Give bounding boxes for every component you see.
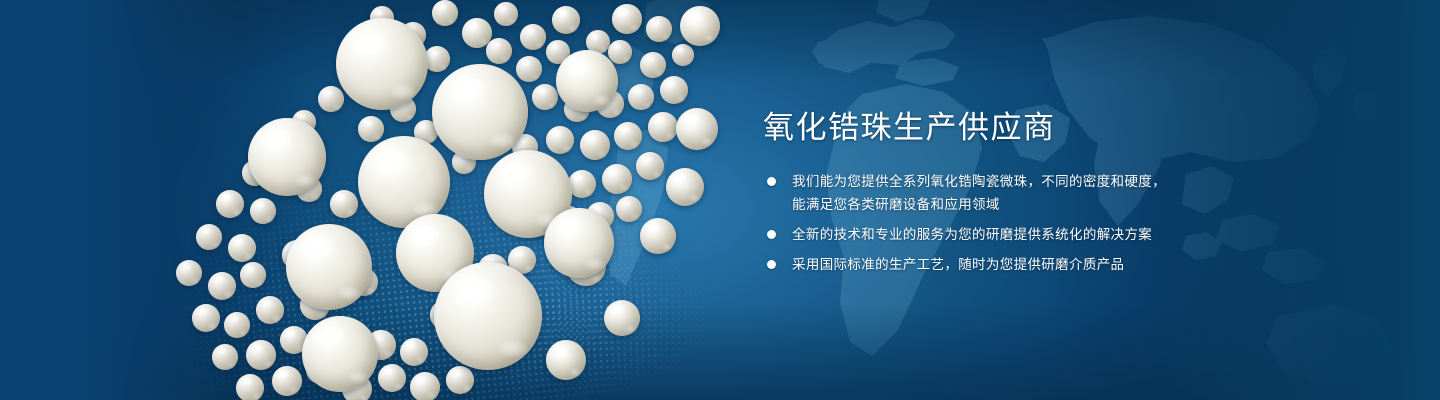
list-item-line: 能满足您各类研磨设备和应用领域 [792,194,1323,215]
list-item-line: 采用国际标准的生产工艺，随时为您提供研磨介质产品 [792,254,1323,275]
banner-content: 氧化锆珠生产供应商 我们能为您提供全系列氧化锆陶瓷微珠，不同的密度和硬度， 能满… [763,108,1323,275]
list-item: 全新的技术和专业的服务为您的研磨提供系统化的解决方案 [763,224,1323,245]
bullet-dot-icon [767,230,776,239]
bullet-dot-icon [767,177,776,186]
list-item: 我们能为您提供全系列氧化锆陶瓷微珠，不同的密度和硬度， 能满足您各类研磨设备和应… [763,171,1323,215]
list-item-line: 我们能为您提供全系列氧化锆陶瓷微珠，不同的密度和硬度， [792,171,1323,192]
list-item: 采用国际标准的生产工艺，随时为您提供研磨介质产品 [763,254,1323,275]
bullet-dot-icon [767,260,776,269]
page-title: 氧化锆珠生产供应商 [763,108,1323,148]
feature-list: 我们能为您提供全系列氧化锆陶瓷微珠，不同的密度和硬度， 能满足您各类研磨设备和应… [763,171,1323,275]
zirconia-beads-image [0,0,760,400]
list-item-line: 全新的技术和专业的服务为您的研磨提供系统化的解决方案 [792,224,1323,245]
hero-banner: 氧化锆珠生产供应商 我们能为您提供全系列氧化锆陶瓷微珠，不同的密度和硬度， 能满… [0,0,1440,400]
